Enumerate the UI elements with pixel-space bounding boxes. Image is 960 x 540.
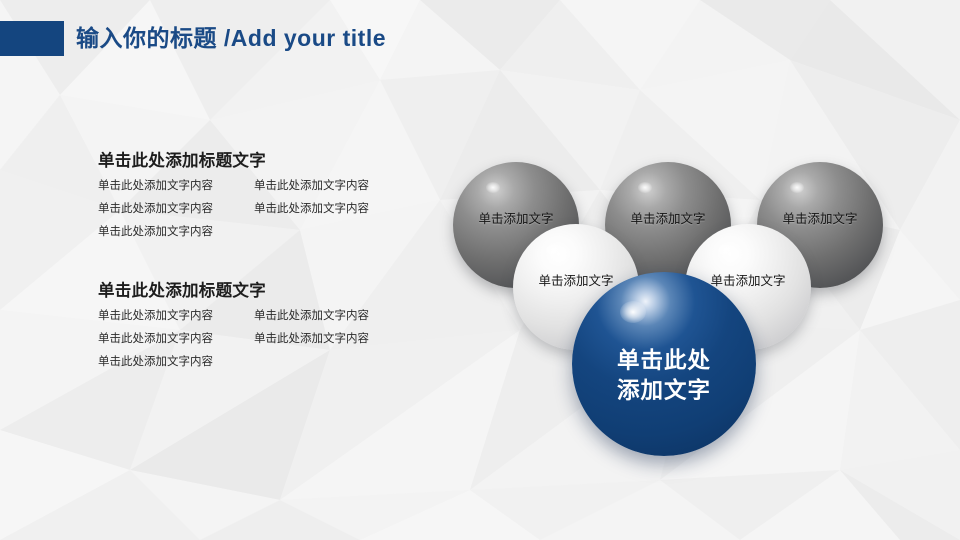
- page-title: 输入你的标题 /Add your title: [76, 22, 386, 55]
- slide-canvas: 输入你的标题 /Add your title 单击此处添加标题文字 单击此处添加…: [0, 0, 960, 540]
- sphere-grey-1-label: 单击添加文字: [453, 208, 579, 227]
- sphere-blue-center-line2: 添加文字: [572, 376, 756, 406]
- text-cell: [254, 355, 396, 369]
- text-cell: 单击此处添加文字内容: [98, 179, 240, 193]
- highlight-icon: [620, 301, 646, 323]
- sphere-blue-center[interactable]: 单击此处 添加文字: [572, 272, 756, 456]
- sphere-grey-2-label: 单击添加文字: [605, 208, 731, 227]
- text-cell: 单击此处添加文字内容: [254, 202, 396, 216]
- text-row: 单击此处添加文字内容: [98, 355, 398, 369]
- text-block-2-heading: 单击此处添加标题文字: [98, 280, 398, 302]
- text-row: 单击此处添加文字内容 单击此处添加文字内容: [98, 202, 398, 216]
- text-block-2-rows: 单击此处添加文字内容 单击此处添加文字内容 单击此处添加文字内容 单击此处添加文…: [98, 309, 398, 369]
- text-row: 单击此处添加文字内容 单击此处添加文字内容: [98, 179, 398, 193]
- sphere-grey-3-label: 单击添加文字: [757, 208, 883, 227]
- text-cell: 单击此处添加文字内容: [98, 225, 240, 239]
- text-cell: 单击此处添加文字内容: [98, 332, 240, 346]
- sphere-blue-center-label: 单击此处 添加文字: [572, 346, 756, 406]
- text-row: 单击此处添加文字内容: [98, 225, 398, 239]
- highlight-icon: [790, 182, 804, 193]
- highlight-icon: [638, 182, 652, 193]
- text-cell: 单击此处添加文字内容: [98, 202, 240, 216]
- text-block-2: 单击此处添加标题文字 单击此处添加文字内容 单击此处添加文字内容 单击此处添加文…: [98, 280, 398, 378]
- sphere-blue-center-line1: 单击此处: [572, 346, 756, 376]
- title-accent-bar: [0, 21, 64, 56]
- text-block-1: 单击此处添加标题文字 单击此处添加文字内容 单击此处添加文字内容 单击此处添加文…: [98, 150, 398, 248]
- highlight-icon: [546, 244, 561, 256]
- text-row: 单击此处添加文字内容 单击此处添加文字内容: [98, 332, 398, 346]
- text-cell: 单击此处添加文字内容: [254, 332, 396, 346]
- text-block-1-heading: 单击此处添加标题文字: [98, 150, 398, 172]
- text-row: 单击此处添加文字内容 单击此处添加文字内容: [98, 309, 398, 323]
- highlight-icon: [718, 244, 733, 256]
- text-cell: [254, 225, 396, 239]
- text-cell: 单击此处添加文字内容: [98, 355, 240, 369]
- text-cell: 单击此处添加文字内容: [254, 179, 396, 193]
- text-block-1-rows: 单击此处添加文字内容 单击此处添加文字内容 单击此处添加文字内容 单击此处添加文…: [98, 179, 398, 239]
- text-cell: 单击此处添加文字内容: [254, 309, 396, 323]
- highlight-icon: [486, 182, 500, 193]
- text-cell: 单击此处添加文字内容: [98, 309, 240, 323]
